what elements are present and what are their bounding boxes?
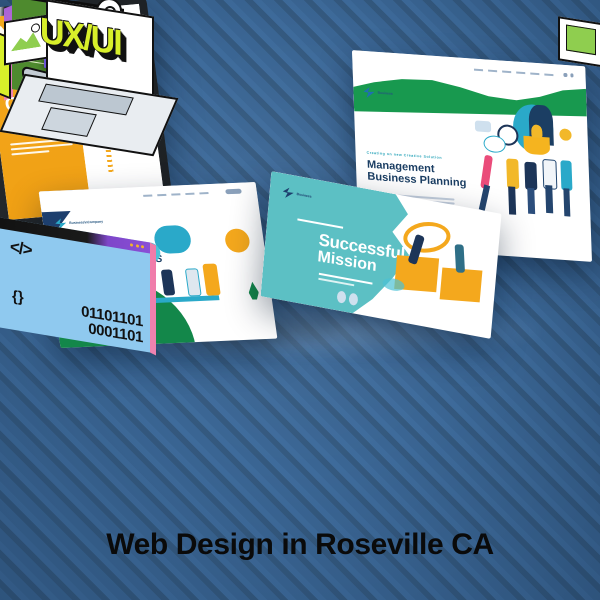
code-tag-icon: </> bbox=[10, 237, 32, 261]
figure-seated-right bbox=[185, 268, 202, 296]
illustration-blob-yellow bbox=[523, 136, 550, 156]
figure-navy-legs bbox=[527, 188, 535, 214]
card-brand-management: Business bbox=[363, 87, 393, 100]
sun-icon bbox=[31, 23, 40, 33]
wireframe-panel-icon bbox=[558, 16, 600, 68]
illustration-coin-icon bbox=[559, 128, 571, 141]
browser-window-dots[interactable] bbox=[564, 73, 574, 77]
page-title: Web Design in Roseville CA bbox=[0, 528, 600, 562]
wireframe-box-icon bbox=[566, 24, 596, 55]
illustration-bulb-icon bbox=[531, 124, 543, 138]
code-brace-icon: {} bbox=[12, 287, 24, 306]
brand-arrow-icon bbox=[282, 186, 294, 199]
figure-mission-right bbox=[455, 244, 465, 273]
figure-navy bbox=[524, 162, 537, 191]
figure-yellow-legs bbox=[508, 186, 516, 214]
brand-label: Business bbox=[378, 91, 393, 96]
browser-nav-dashes bbox=[473, 69, 552, 77]
figure-teal bbox=[560, 160, 572, 191]
browser-nav-dashes bbox=[144, 192, 210, 197]
figure-teal-legs bbox=[563, 188, 570, 216]
code-window-right-edge bbox=[150, 243, 156, 356]
illustration-speech-icon bbox=[475, 120, 491, 132]
window-control-dots[interactable] bbox=[130, 243, 144, 248]
figure-standing-orange bbox=[202, 263, 221, 295]
illustration-stage: Business Creating on new Creative Soluti… bbox=[0, 0, 600, 600]
figure-yellow bbox=[506, 158, 519, 189]
illustration-gear-icon bbox=[224, 228, 251, 253]
brand-arrow-icon bbox=[363, 87, 374, 99]
mgmt-headline-line2: Business Planning bbox=[367, 171, 466, 190]
code-binary-text: 01101101 0001101 bbox=[81, 304, 143, 345]
brand-label: Business\nCompany bbox=[69, 220, 103, 225]
illustration-yellow-ring bbox=[400, 219, 453, 255]
figure-white-legs bbox=[545, 185, 553, 213]
illustration-plant bbox=[247, 282, 260, 300]
illustration-yellow-board-2 bbox=[440, 267, 483, 302]
browser-search-pill[interactable] bbox=[225, 189, 242, 195]
brand-label: Business bbox=[296, 193, 311, 200]
